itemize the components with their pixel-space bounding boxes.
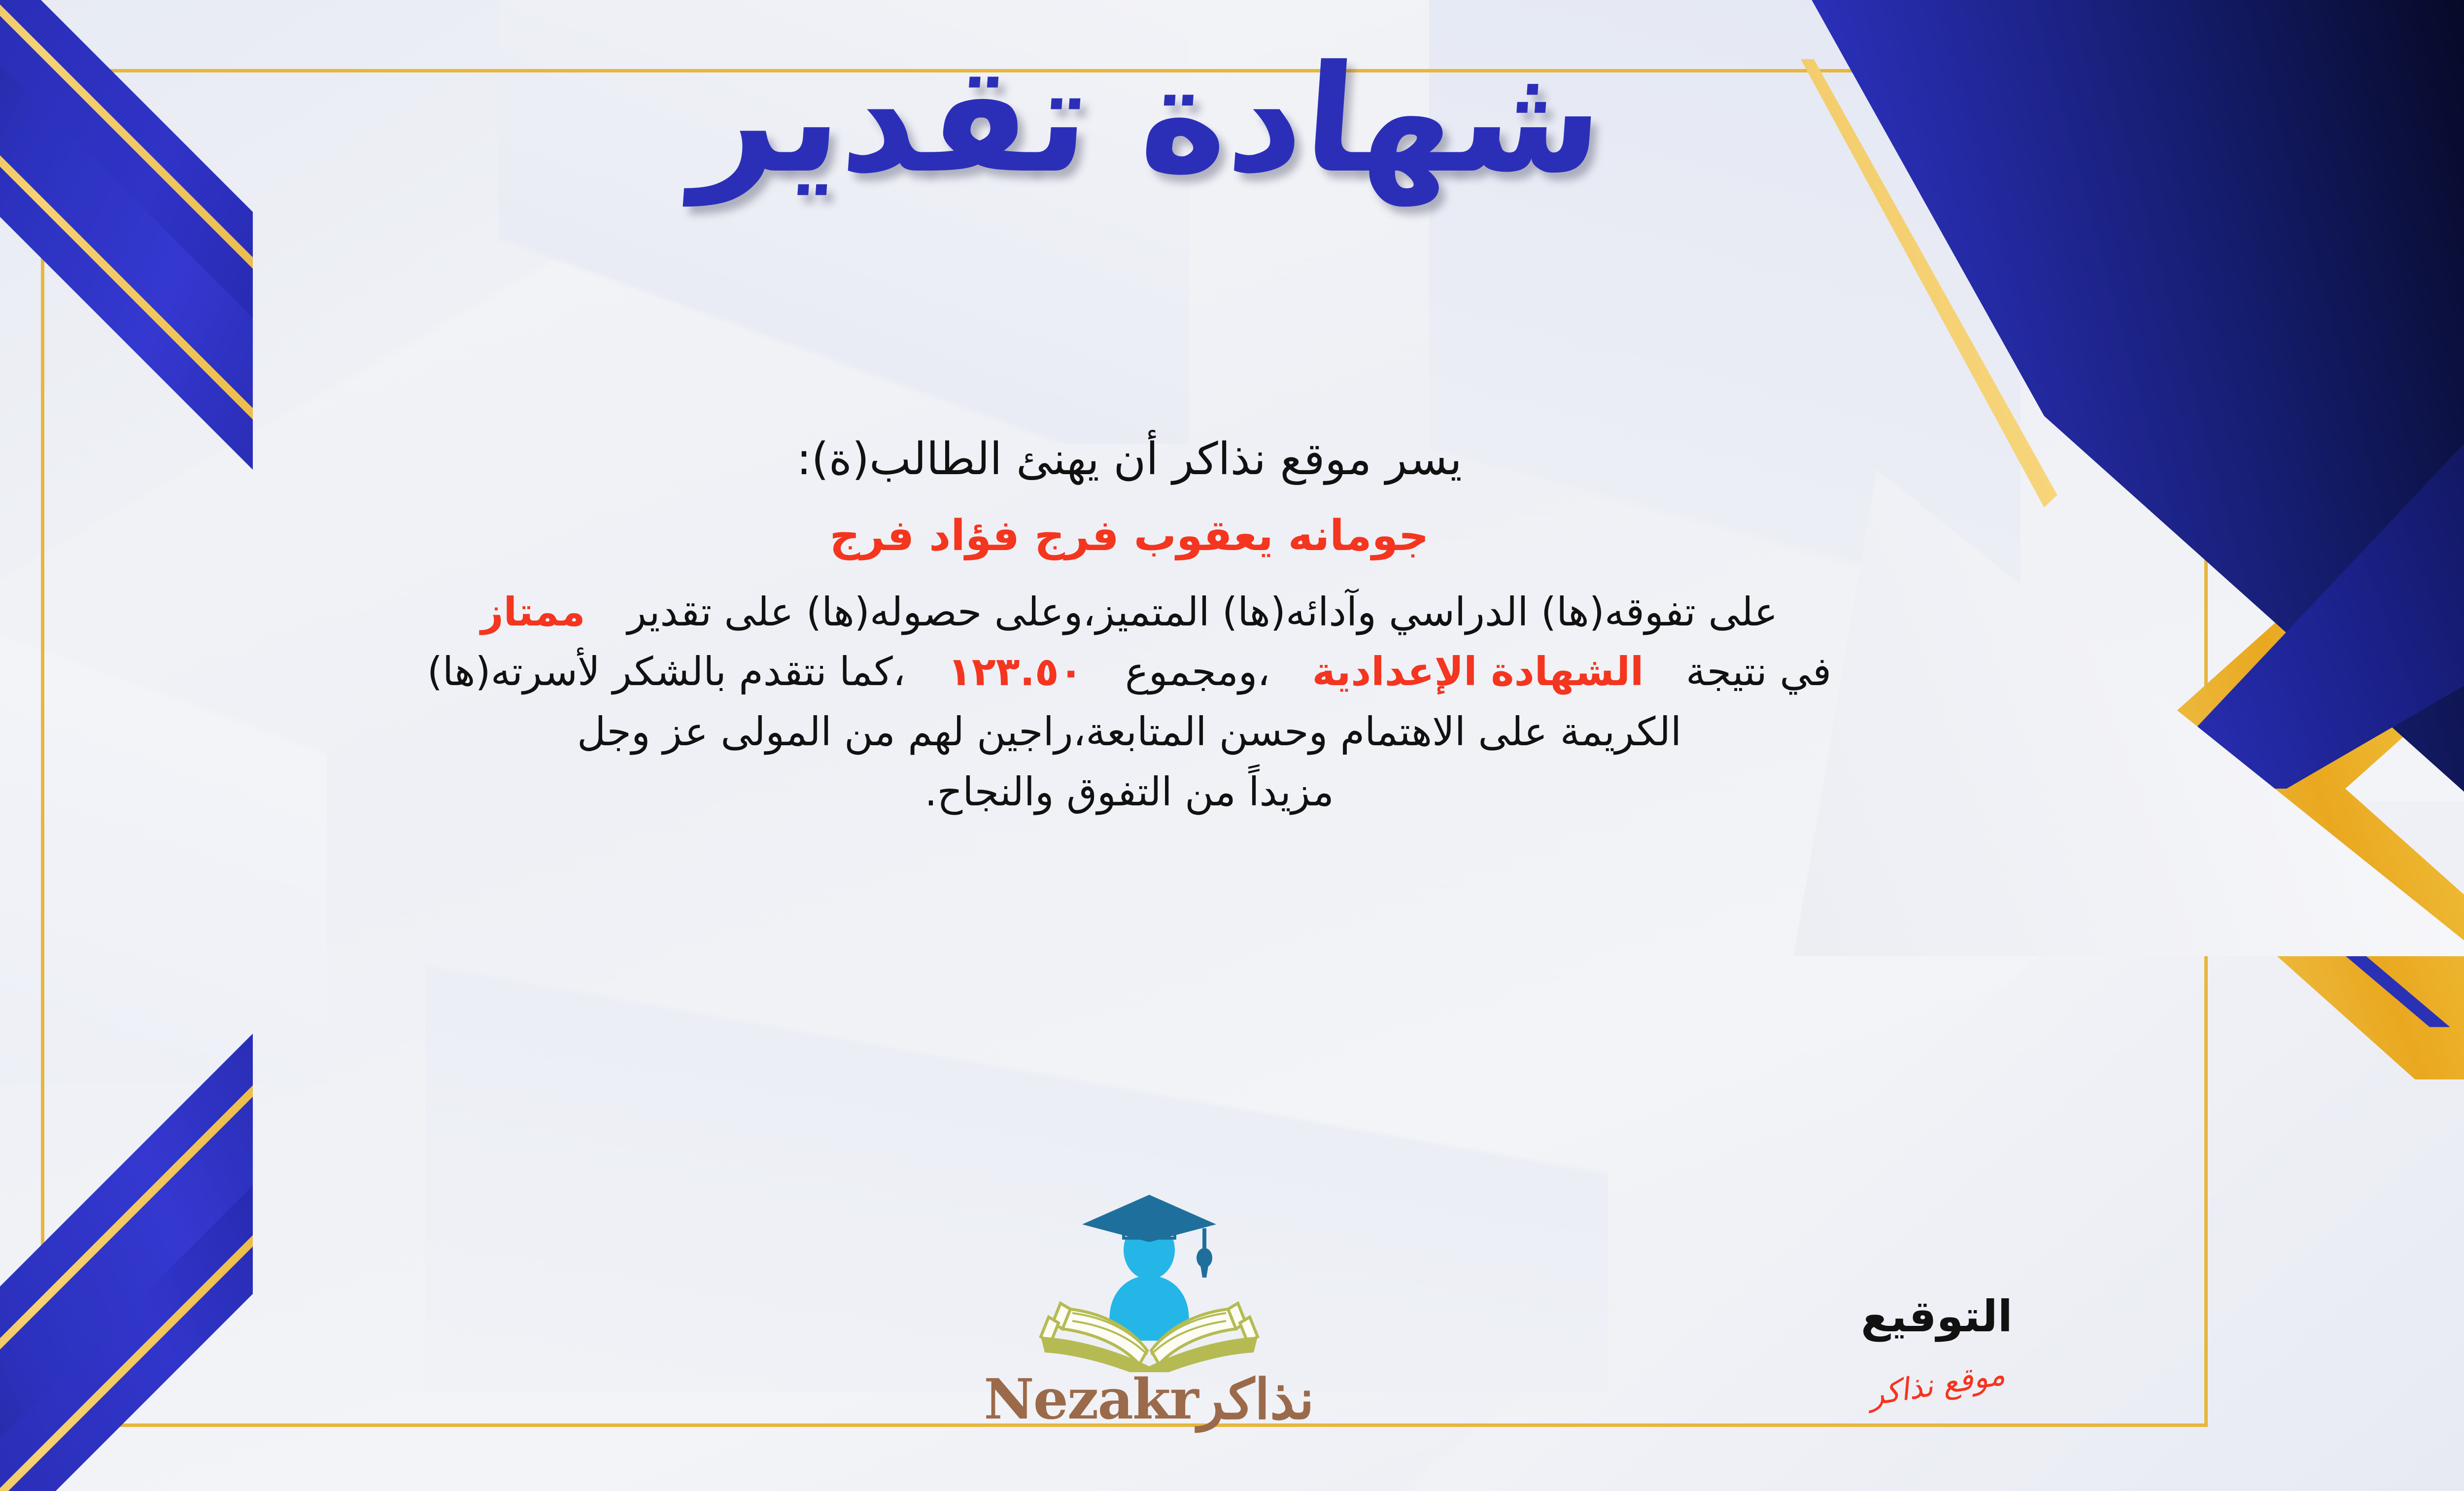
student-name: جومانه يعقوب فرج فؤاد فرج: [0, 507, 2277, 565]
citation-text-a: على تفوقه(ها) الدراسي وآدائه(ها) المتميز…: [627, 589, 1778, 635]
citation-line-6: مزيداً من التفوق والنجاح.: [0, 762, 2277, 822]
signature-block: التوقيع موقع نذاكر: [1784, 1291, 2089, 1402]
citation-line-4: في نتيجة الشهادة الإعدادية ،ومجموع ١٢٣.٥…: [0, 642, 2277, 702]
citation-line-5: الكريمة على الاهتمام وحسن المتابعة،راجين…: [0, 702, 2277, 762]
signature-label: التوقيع: [1784, 1291, 2089, 1342]
citation-line-3: على تفوقه(ها) الدراسي وآدائه(ها) المتميز…: [0, 582, 2277, 642]
citation-text-b: في نتيجة: [1686, 649, 1831, 694]
certificate-page: شهادة تقدير يسر موقع نذاكر أن يهنئ الطال…: [0, 0, 2464, 1491]
brand-wordmark: نذاكرNezakr: [942, 1367, 1356, 1432]
certificate-content: شهادة تقدير يسر موقع نذاكر أن يهنئ الطال…: [0, 0, 2464, 1491]
exam-name: الشهادة الإعدادية: [1283, 649, 1674, 694]
citation-paragraph: على تفوقه(ها) الدراسي وآدائه(ها) المتميز…: [0, 582, 2277, 822]
total-score: ١٢٣.٥٠: [918, 649, 1113, 694]
page-title: شهادة تقدير: [0, 27, 2464, 212]
brand-logo: نذاكرNezakr: [942, 1185, 1356, 1432]
intro-line: يسر موقع نذاكر أن يهنئ الطالب(ة):: [0, 429, 2277, 490]
graduate-book-icon: [1011, 1185, 1287, 1372]
grade-value: ممتاز: [481, 589, 615, 635]
brand-latin: Nezakr: [984, 1367, 1198, 1432]
citation-text-c: ،ومجموع: [1125, 649, 1270, 694]
brand-arabic: نذاكر: [1198, 1367, 1314, 1432]
certificate-body: يسر موقع نذاكر أن يهنئ الطالب(ة): جومانه…: [0, 429, 2277, 822]
signature-mark: موقع نذاكر: [1866, 1356, 2007, 1413]
citation-text-d: ،كما نتقدم بالشكر لأسرته(ها): [427, 649, 906, 694]
